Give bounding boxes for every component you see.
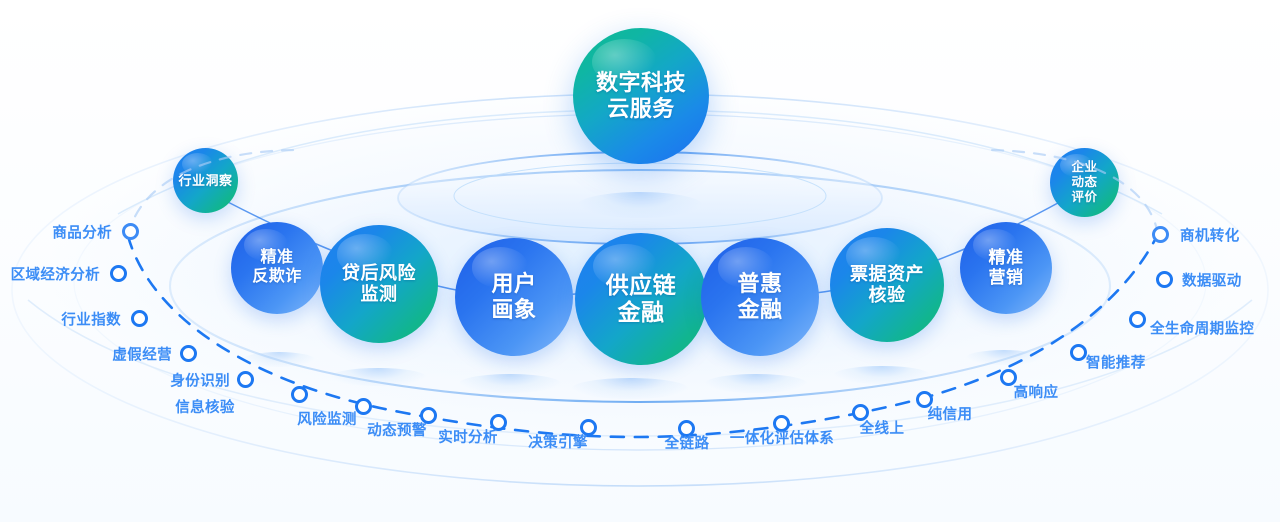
reflection bbox=[578, 192, 702, 218]
sphere-label: 企业 动态 评价 bbox=[1071, 160, 1097, 204]
sphere-label: 精准 营销 bbox=[989, 248, 1024, 288]
label-text: 数据驱动 bbox=[1182, 274, 1242, 290]
sphere-post-loan-risk-monitoring[interactable]: 贷后风险 监测 bbox=[320, 225, 438, 343]
reflection bbox=[834, 366, 930, 384]
sphere-label: 票据资产 核验 bbox=[850, 264, 924, 306]
label-text: 一体化评估体系 bbox=[730, 431, 834, 447]
orbit-label-integrated-evaluation-system[interactable]: 一体化评估体系 bbox=[730, 427, 834, 448]
sphere-label: 普惠 金融 bbox=[737, 271, 782, 323]
label-text: 纯信用 bbox=[928, 407, 973, 423]
orbit-node-dot[interactable] bbox=[180, 345, 197, 362]
label-text: 实时分析 bbox=[438, 430, 498, 446]
reflection bbox=[966, 350, 1042, 365]
orbit-label-identity-recognition[interactable]: 身份识别 bbox=[170, 370, 230, 391]
orbit-node-dot[interactable] bbox=[122, 223, 139, 240]
orbit-label-full-lifecycle-monitoring[interactable]: 全生命周期监控 bbox=[1150, 318, 1254, 339]
orbit-label-business-opportunity-conversion[interactable]: 商机转化 bbox=[1180, 225, 1240, 246]
orbit-label-risk-monitoring[interactable]: 风险监测 bbox=[297, 408, 357, 429]
label-text: 信息核验 bbox=[175, 400, 235, 416]
sphere-supply-chain-finance[interactable]: 供应链 金融 bbox=[575, 233, 707, 365]
sphere-bill-asset-verification[interactable]: 票据资产 核验 bbox=[830, 228, 944, 342]
diagram-canvas: 数字科技 云服务 行业洞察 精准 反欺诈 贷后风险 监测 用户 画象 供应链 金… bbox=[0, 0, 1280, 522]
orbit-node-dot[interactable] bbox=[1070, 344, 1087, 361]
reflection bbox=[330, 368, 426, 386]
center-platform-inner bbox=[454, 163, 826, 229]
label-text: 全线上 bbox=[860, 421, 905, 437]
orbit-node-dot[interactable] bbox=[1152, 226, 1169, 243]
sphere-enterprise-dynamic-rating[interactable]: 企业 动态 评价 bbox=[1050, 148, 1119, 217]
orbit-label-industry-index[interactable]: 行业指数 bbox=[61, 309, 121, 330]
label-text: 动态预警 bbox=[367, 423, 427, 439]
sphere-user-profile[interactable]: 用户 画象 bbox=[455, 238, 573, 356]
label-text: 商机转化 bbox=[1180, 229, 1240, 245]
center-sphere-label: 数字科技 云服务 bbox=[596, 70, 686, 122]
sphere-precise-anti-fraud[interactable]: 精准 反欺诈 bbox=[231, 222, 323, 314]
label-text: 智能推荐 bbox=[1086, 356, 1146, 372]
label-text: 商品分析 bbox=[52, 226, 112, 242]
label-text: 虚假经营 bbox=[112, 348, 172, 364]
orbit-label-realtime-analysis[interactable]: 实时分析 bbox=[438, 426, 498, 447]
reflection bbox=[459, 374, 561, 393]
label-text: 区域经济分析 bbox=[11, 268, 100, 284]
label-text: 风险监测 bbox=[297, 412, 357, 428]
sphere-label: 行业洞察 bbox=[178, 173, 232, 188]
orbit-label-data-driven[interactable]: 数据驱动 bbox=[1182, 270, 1242, 291]
reflection bbox=[705, 374, 807, 393]
label-text: 全链路 bbox=[665, 436, 710, 452]
sphere-label: 用户 画象 bbox=[491, 271, 536, 323]
sphere-precision-marketing[interactable]: 精准 营销 bbox=[960, 222, 1052, 314]
orbit-node-dot[interactable] bbox=[291, 386, 308, 403]
orbit-label-commodity-analysis[interactable]: 商品分析 bbox=[52, 222, 112, 243]
sphere-label: 供应链 金融 bbox=[606, 272, 677, 326]
orbit-label-full-chain[interactable]: 全链路 bbox=[665, 432, 710, 453]
orbit-label-false-operation[interactable]: 虚假经营 bbox=[112, 344, 172, 365]
label-text: 行业指数 bbox=[61, 313, 121, 329]
sphere-label: 贷后风险 监测 bbox=[342, 263, 416, 305]
orbit-node-dot[interactable] bbox=[110, 265, 127, 282]
label-text: 决策引擎 bbox=[528, 435, 588, 451]
sphere-industry-insight[interactable]: 行业洞察 bbox=[173, 148, 238, 213]
label-text: 高响应 bbox=[1014, 385, 1059, 401]
label-text: 全生命周期监控 bbox=[1150, 322, 1254, 338]
sphere-label: 精准 反欺诈 bbox=[252, 249, 302, 287]
orbit-label-fully-online[interactable]: 全线上 bbox=[860, 417, 905, 438]
center-sphere-digital-tech-cloud[interactable]: 数字科技 云服务 bbox=[573, 28, 709, 164]
orbit-node-dot[interactable] bbox=[355, 398, 372, 415]
orbit-node-dot[interactable] bbox=[131, 310, 148, 327]
reflection bbox=[572, 378, 688, 399]
orbit-label-pure-credit[interactable]: 纯信用 bbox=[928, 403, 973, 424]
orbit-label-dynamic-early-warning[interactable]: 动态预警 bbox=[367, 419, 427, 440]
orbit-label-decision-engine[interactable]: 决策引擎 bbox=[528, 431, 588, 452]
orbit-label-smart-recommendation[interactable]: 智能推荐 bbox=[1086, 352, 1146, 373]
center-platform bbox=[398, 152, 882, 244]
orbit-node-dot[interactable] bbox=[1156, 271, 1173, 288]
reflection bbox=[243, 352, 315, 367]
label-text: 身份识别 bbox=[170, 374, 230, 390]
orbit-node-dot[interactable] bbox=[237, 371, 254, 388]
sphere-inclusive-finance[interactable]: 普惠 金融 bbox=[701, 238, 819, 356]
orbit-node-dot[interactable] bbox=[1129, 311, 1146, 328]
orbit-label-regional-economy-analysis[interactable]: 区域经济分析 bbox=[11, 264, 100, 285]
orbit-label-information-verification[interactable]: 信息核验 bbox=[175, 396, 235, 417]
orbit-label-high-response[interactable]: 高响应 bbox=[1014, 381, 1059, 402]
